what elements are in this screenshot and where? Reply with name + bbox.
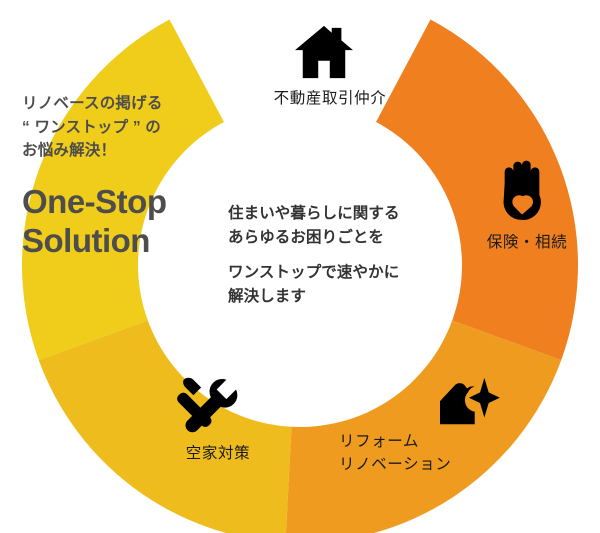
one-stop-solution-infographic: 不動産取引仲介 保険・相続 リフォーム リノベーション 空家対策 リノベースの掲… — [0, 0, 600, 533]
segment-label-akiya: 空家対策 — [168, 443, 268, 465]
center-paragraph-2-line-0: ワンストップで速やかに — [228, 261, 458, 285]
house-sparkle-icon — [434, 376, 500, 430]
center-paragraph-2-line-1: 解決します — [228, 285, 458, 309]
donut-reform[interactable] — [39, 320, 292, 533]
headline-lede: リノベースの掲げる “ ワンストップ ” の お悩み解決！ — [22, 92, 222, 163]
hammer-wrench-icon — [172, 375, 238, 433]
headline-block: リノベースの掲げる “ ワンストップ ” の お悩み解決！ One-Stop S… — [22, 92, 222, 261]
segment-label-fudosan-line-0: 不動産取引仲介 — [250, 88, 410, 110]
center-description: 住まいや暮らしに関する あらゆるお困りごとを ワンストップで速やかに 解決します — [228, 202, 458, 309]
house-icon — [293, 24, 355, 80]
segment-label-reform-line-0: リフォーム — [339, 430, 499, 453]
headline-lede-line-2: お悩み解決！ — [22, 139, 222, 163]
page-title-line-0: One-Stop — [22, 183, 222, 222]
page-title-line-1: Solution — [22, 222, 222, 261]
center-paragraph-1-line-1: あらゆるお困りごとを — [228, 226, 458, 250]
headline-lede-line-0: リノベースの掲げる — [22, 92, 222, 116]
segment-label-hoken-line-0: 保険・相続 — [468, 232, 586, 254]
headline-lede-line-1: “ ワンストップ ” の — [22, 116, 222, 140]
donut-hoken[interactable] — [285, 320, 561, 533]
center-paragraph-1-line-0: 住まいや暮らしに関する — [228, 202, 458, 226]
segment-label-reform-line-1: リノベーション — [339, 453, 499, 476]
page-title: One-Stop Solution — [22, 183, 222, 261]
segment-label-hoken: 保険・相続 — [468, 232, 586, 254]
segment-label-akiya-line-0: 空家対策 — [168, 443, 268, 465]
center-paragraph-2: ワンストップで速やかに 解決します — [228, 261, 458, 309]
center-paragraph-1: 住まいや暮らしに関する あらゆるお困りごとを — [228, 202, 458, 250]
segment-label-reform: リフォーム リノベーション — [339, 430, 499, 477]
hand-heart-icon — [496, 160, 548, 222]
segment-label-fudosan: 不動産取引仲介 — [250, 88, 410, 110]
